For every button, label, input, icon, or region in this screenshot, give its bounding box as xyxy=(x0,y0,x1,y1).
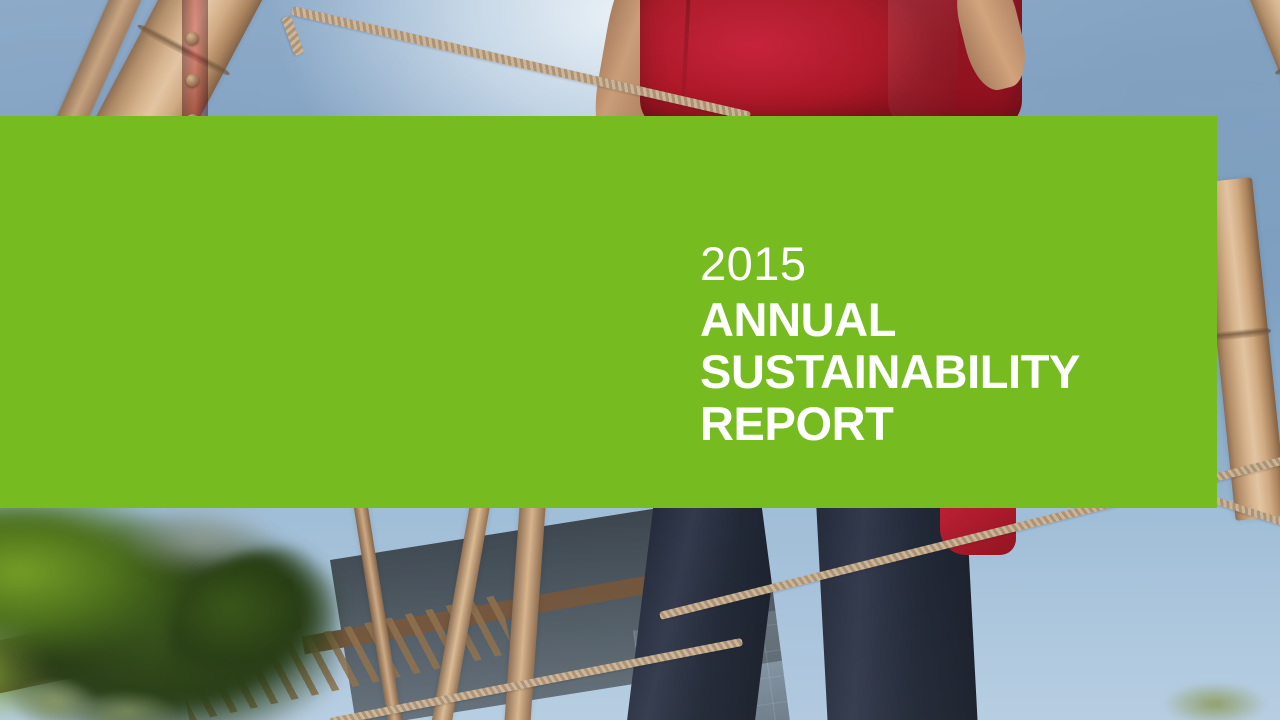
bamboo-node xyxy=(1274,43,1280,77)
jacket-fold xyxy=(888,0,958,130)
report-year: 2015 xyxy=(700,240,1160,287)
background-shrub xyxy=(0,660,180,720)
bamboo-node xyxy=(1213,326,1272,341)
jacket-fold xyxy=(680,0,693,130)
jacket-button xyxy=(186,32,199,45)
page-title-line-1: ANNUAL xyxy=(700,294,1160,346)
jacket-button xyxy=(186,74,199,87)
page-title-line-2: SUSTAINABILITY xyxy=(700,346,1160,398)
cover-title-block: 2015 ANNUAL SUSTAINABILITY REPORT xyxy=(700,240,1160,450)
background-shrub xyxy=(1140,668,1280,720)
report-cover-page: 2015 ANNUAL SUSTAINABILITY REPORT xyxy=(0,0,1280,720)
page-title-line-3: REPORT xyxy=(700,398,1160,450)
person-leg-left xyxy=(626,500,782,720)
